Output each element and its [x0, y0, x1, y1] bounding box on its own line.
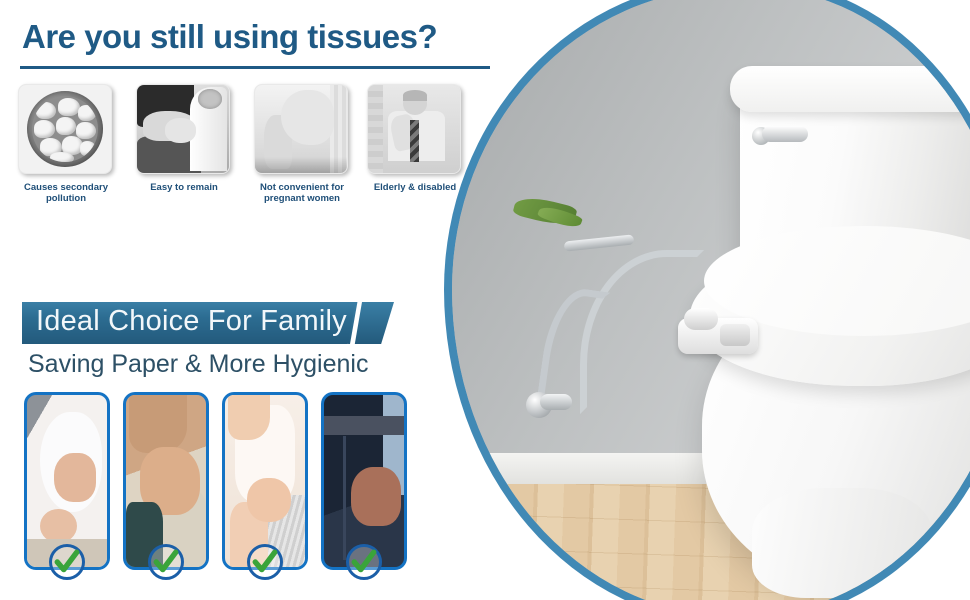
pregnant-woman-icon	[254, 84, 348, 174]
wall-valve	[526, 384, 572, 424]
check-badge-3	[247, 544, 283, 580]
bidet-attachment	[678, 308, 764, 364]
green-check-icon	[54, 549, 80, 575]
green-check-icon	[252, 549, 278, 575]
problem-thumbnail-row: Causes secondary pollution Easy to remai…	[18, 84, 488, 204]
ideal-choice-ribbon: Ideal Choice For Family	[22, 302, 392, 344]
elderly-man-icon	[367, 84, 461, 174]
check-badge-1	[49, 544, 85, 580]
benefit-card-row	[24, 392, 400, 582]
check-badge-4	[346, 544, 382, 580]
problem-caption-4: Elderly & disabled	[367, 182, 463, 193]
check-badge-2	[148, 544, 184, 580]
person-holding-roll-icon	[136, 84, 230, 174]
problem-item-1: Causes secondary pollution	[18, 84, 114, 205]
ribbon-label: Ideal Choice For Family	[36, 305, 347, 338]
problem-item-4: Elderly & disabled	[367, 84, 463, 193]
problem-item-2: Easy to remain	[136, 84, 232, 193]
flush-handle	[752, 126, 806, 146]
bowl-of-tissues-icon	[18, 84, 112, 174]
subheading: Saving Paper & More Hygienic	[28, 350, 368, 379]
problem-caption-1: Causes secondary pollution	[18, 182, 114, 205]
product-photo-blob	[452, 0, 970, 600]
toilet-tank-lid	[730, 66, 970, 112]
green-check-icon	[351, 549, 377, 575]
title-underline	[20, 66, 490, 69]
toilet-base	[752, 488, 932, 598]
green-check-icon	[153, 549, 179, 575]
page-title: Are you still using tissues?	[22, 18, 437, 56]
problem-caption-2: Easy to remain	[136, 182, 232, 193]
problem-item-3: Not convenient for pregnant women	[254, 84, 350, 205]
problem-caption-3: Not convenient for pregnant women	[254, 182, 350, 205]
promo-banner: Are you still using tissues?	[0, 0, 970, 600]
